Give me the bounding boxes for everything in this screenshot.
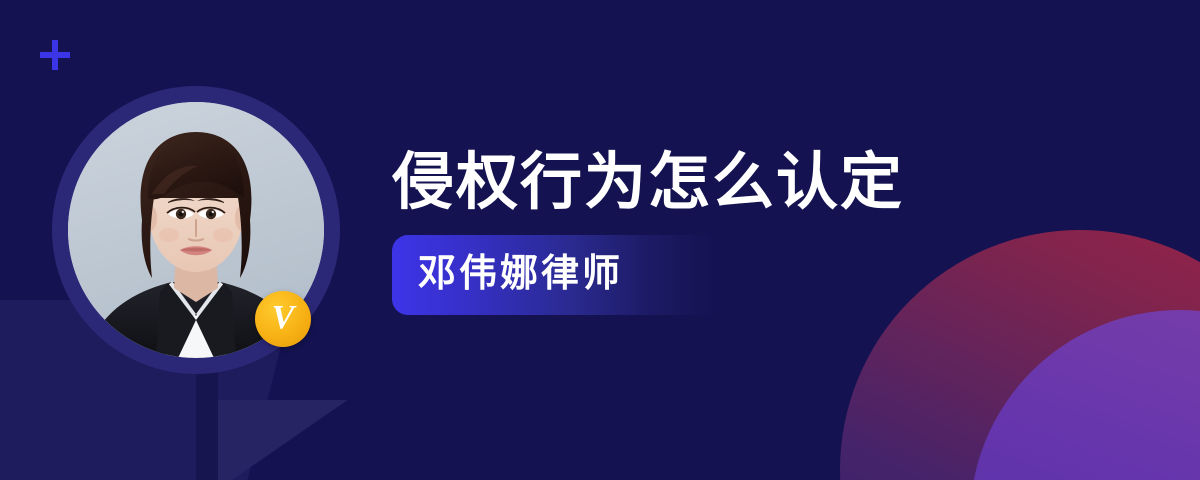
lawyer-name-label: 邓伟娜律师 — [418, 253, 623, 295]
text-content: 侵权行为怎么认定 邓伟娜律师 — [392, 150, 1132, 315]
decorative-triangle — [218, 400, 348, 480]
avatar: V — [52, 86, 340, 374]
lawyer-video-cover-banner: V 侵权行为怎么认定 邓伟娜律师 — [0, 0, 1200, 480]
decorative-arc-purple — [970, 310, 1200, 480]
lawyer-name-badge: 邓伟娜律师 — [392, 235, 718, 315]
plus-icon — [38, 38, 72, 72]
verified-badge-label: V — [272, 301, 295, 335]
page-title: 侵权行为怎么认定 — [392, 150, 1132, 215]
verified-badge-icon: V — [255, 291, 311, 347]
